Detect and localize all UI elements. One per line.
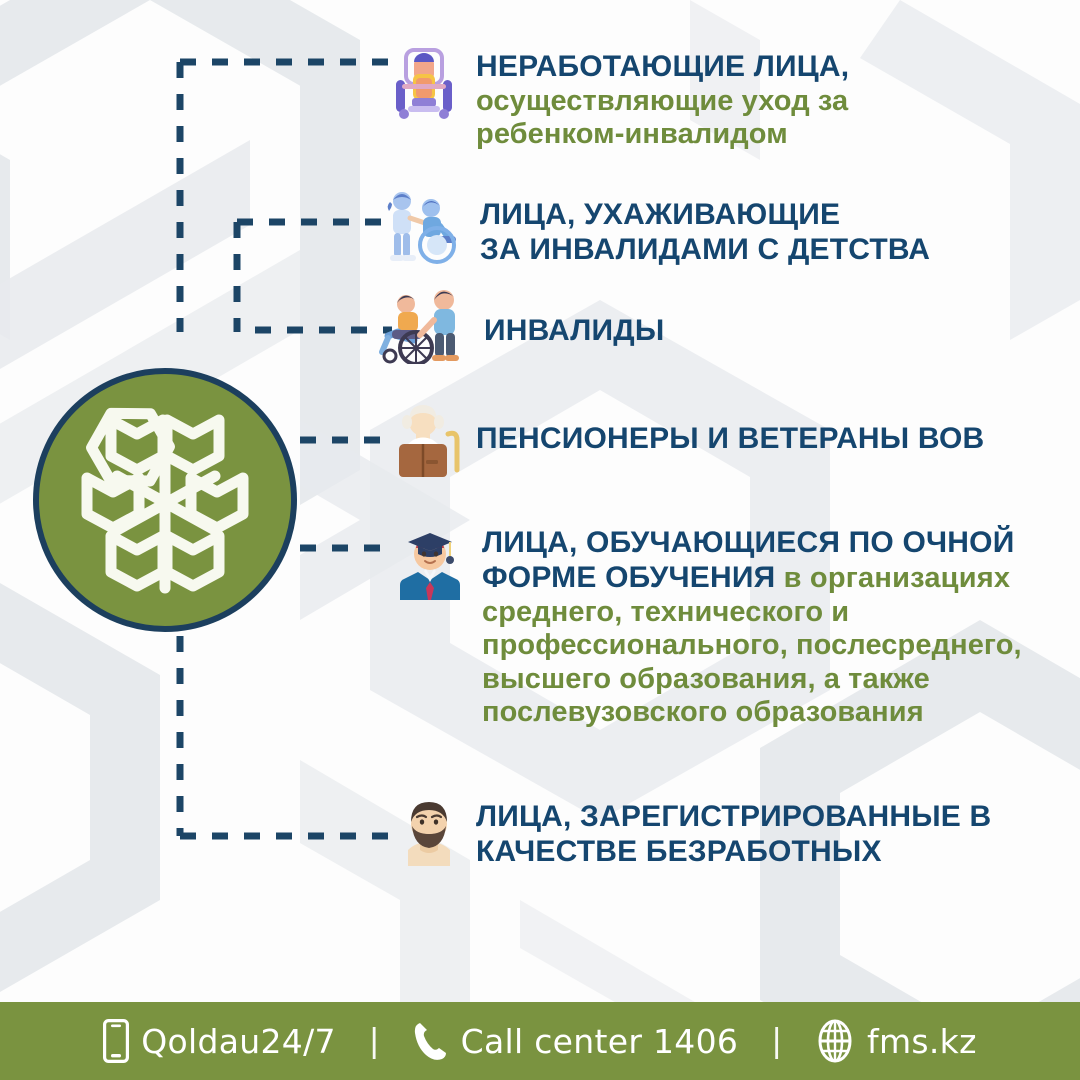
footer-entry-label: Qoldau24/7 [141, 1022, 336, 1061]
hexagon-flower-icon [65, 400, 265, 600]
list-item-line: ПЕНСИОНЕРЫ И ВЕТЕРАНЫ ВОВ [476, 422, 984, 457]
list-item-line: ЛИЦА, ОБУЧАЮЩИЕСЯ ПО ОЧНОЙ [482, 526, 1022, 561]
list-item-line-strong: ФОРМЕ ОБУЧЕНИЯ [482, 561, 775, 594]
list-item-line-tail: в организациях [775, 562, 1010, 594]
globe-icon [815, 1019, 855, 1063]
list-item-text: НЕРАБОТАЮЩИЕ ЛИЦА, осуществляющие уход з… [476, 50, 849, 152]
bearded-man-portrait-icon [398, 794, 460, 871]
person-pushing-wheelchair-icon [374, 286, 468, 369]
list-item: ПЕНСИОНЕРЫ И ВЕТЕРАНЫ ВОВ [396, 404, 984, 483]
list-item-text: ЛИЦА, ОБУЧАЮЩИЕСЯ ПО ОЧНОЙ ФОРМЕ ОБУЧЕНИ… [482, 526, 1022, 730]
footer-entry-app[interactable]: Qoldau24/7 [103, 1019, 336, 1063]
list-item-line: послевузовского образования [482, 696, 1022, 730]
list-item-line: ЛИЦА, УХАЖИВАЮЩИЕ [480, 198, 930, 233]
footer-entry-label: fms.kz [867, 1022, 977, 1061]
list-item-line: осуществляющие уход за [476, 85, 849, 119]
footer-separator: | [336, 1022, 413, 1061]
footer-entry-callcenter[interactable]: Call center 1406 [413, 1021, 739, 1061]
mobile-phone-icon [103, 1019, 129, 1063]
list-item-line: КАЧЕСТВЕ БЕЗРАБОТНЫХ [476, 835, 991, 870]
list-item-line: ЗА ИНВАЛИДАМИ С ДЕТСТВА [480, 233, 930, 268]
child-in-wheelchair-icon [388, 44, 460, 127]
list-item-line: профессионального, послесреднего, [482, 629, 1022, 663]
list-item-line: среднего, технического и [482, 596, 1022, 630]
graduate-student-icon [394, 524, 466, 605]
list-item-line: ИНВАЛИДЫ [484, 314, 664, 349]
footer-entry-label: Call center 1406 [461, 1022, 739, 1061]
list-item: ЛИЦА, УХАЖИВАЮЩИЕ ЗА ИНВАЛИДАМИ С ДЕТСТВ… [380, 188, 930, 273]
qoldau-logo [33, 368, 297, 632]
list-item: ЛИЦА, ОБУЧАЮЩИЕСЯ ПО ОЧНОЙ ФОРМЕ ОБУЧЕНИ… [394, 524, 1022, 730]
list-item-text: ЛИЦА, ЗАРЕГИСТРИРОВАННЫЕ В КАЧЕСТВЕ БЕЗР… [476, 800, 991, 870]
list-item-line: НЕРАБОТАЮЩИЕ ЛИЦА, [476, 50, 849, 85]
list-item-text: ПЕНСИОНЕРЫ И ВЕТЕРАНЫ ВОВ [476, 422, 984, 457]
list-item-line: ЛИЦА, ЗАРЕГИСТРИРОВАННЫЕ В [476, 800, 991, 835]
list-item-line: высшего образования, а также [482, 663, 1022, 697]
list-item-text: ЛИЦА, УХАЖИВАЮЩИЕ ЗА ИНВАЛИДАМИ С ДЕТСТВ… [480, 198, 930, 268]
list-item: ЛИЦА, ЗАРЕГИСТРИРОВАННЫЕ В КАЧЕСТВЕ БЕЗР… [398, 794, 991, 871]
footer-entry-website[interactable]: fms.kz [815, 1019, 977, 1063]
footer-contact-bar: Qoldau24/7 | Call center 1406 | fms.kz [0, 1002, 1080, 1080]
list-item: НЕРАБОТАЮЩИЕ ЛИЦА, осуществляющие уход з… [388, 44, 849, 152]
list-item-line: ребенком-инвалидом [476, 118, 849, 152]
list-item-text: ИНВАЛИДЫ [484, 314, 664, 349]
phone-handset-icon [413, 1021, 449, 1061]
infographic-poster: НЕРАБОТАЮЩИЕ ЛИЦА, осуществляющие уход з… [0, 0, 1080, 1080]
footer-separator: | [738, 1022, 815, 1061]
elderly-man-with-cane-icon [396, 404, 460, 483]
logo-circle [33, 368, 297, 632]
list-item-line-mixed: ФОРМЕ ОБУЧЕНИЯ в организациях [482, 561, 1022, 596]
list-item: ИНВАЛИДЫ [374, 286, 664, 369]
nurse-pushing-wheelchair-icon [380, 188, 464, 273]
